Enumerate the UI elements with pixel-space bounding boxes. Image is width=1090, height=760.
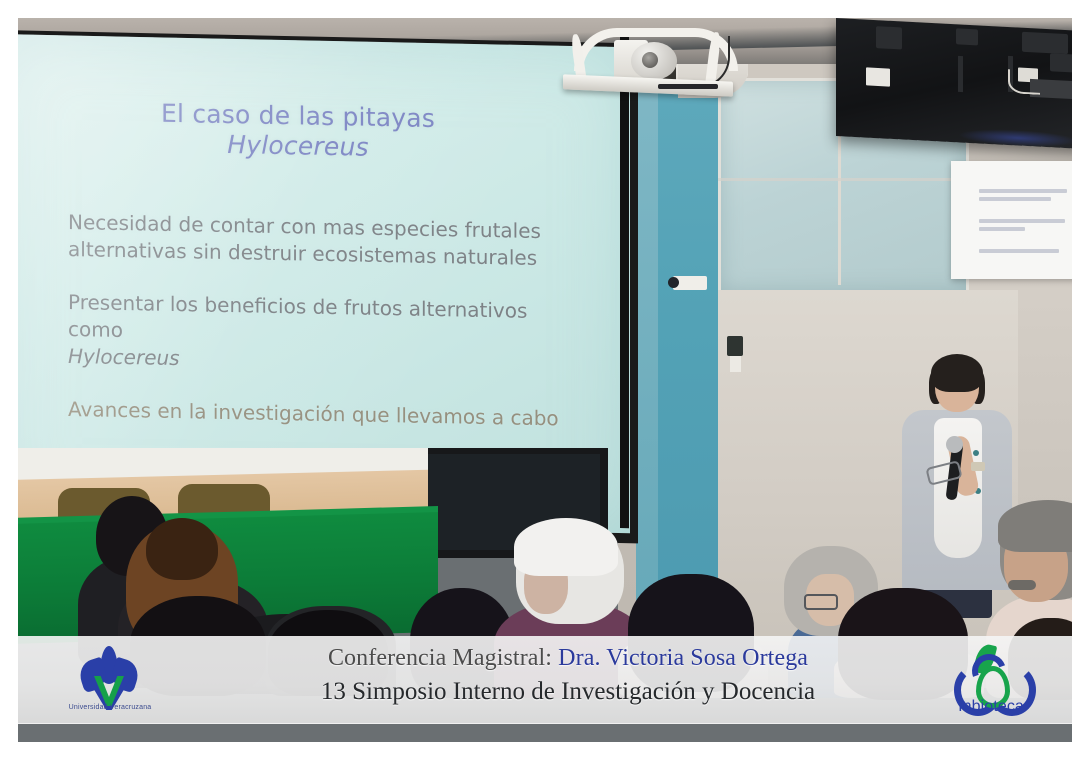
camera-cable-clip [658, 84, 718, 89]
secondary-monitor-screen [951, 161, 1072, 279]
tv-vesa-arm [958, 56, 963, 92]
glass-rail [718, 178, 963, 181]
universidad-veracruzana-logo: Universidad Veracruzana [58, 644, 162, 718]
monitor-text-line [979, 249, 1059, 253]
speaker-name: Dra. Victoria Sosa Ortega [558, 645, 808, 671]
wall-device-tag [730, 356, 741, 372]
tv-mount-bracket [1050, 53, 1072, 72]
speaker-hair [931, 354, 983, 392]
caption-line-1: Conferencia Magistral: Dra. Victoria Sos… [268, 642, 868, 675]
monitor-text-line [979, 197, 1051, 201]
moustache [1008, 580, 1036, 590]
projection-screen-right-edge [620, 36, 629, 528]
caption-line-2: 13 Simposio Interno de Investigación y D… [268, 675, 868, 708]
slide-bullet-text: Presentar los beneficios de frutos alter… [68, 290, 527, 342]
tv-mount-bracket [956, 28, 978, 45]
slide-bullet-italic: Hylocereus [68, 343, 588, 380]
uv-logo-caption: Universidad Veracruzana [58, 704, 162, 711]
tv-mount-bracket [1022, 32, 1068, 54]
caption-prefix: Conferencia Magistral: [328, 645, 558, 671]
speaker-button [973, 450, 979, 456]
presentation-slide: El caso de las pitayas Hylocereus Necesi… [18, 48, 618, 500]
wall-device-box [727, 336, 743, 356]
photo-frame: El caso de las pitayas Hylocereus Necesi… [0, 0, 1090, 760]
caption-bar: Universidad Veracruzana Conferencia Magi… [18, 636, 1072, 724]
tv-sticker [866, 67, 890, 86]
slide-bullet-text: Necesidad de contar con mas especies fru… [68, 210, 541, 270]
slide-bullet: Necesidad de contar con mas especies fru… [68, 209, 588, 273]
slide-title-line2: Hylocereus [18, 126, 578, 167]
wall-camera-icon [668, 277, 679, 288]
slide-bullet: Avances en la investigación que llevamos… [68, 396, 588, 433]
caption-text: Conferencia Magistral: Dra. Victoria Sos… [268, 642, 868, 708]
eyeglasses-icon [804, 594, 838, 610]
monitor-text-line [979, 219, 1065, 223]
teal-wall-pillar [658, 56, 720, 646]
inbioteca-logo: Inbioteca [932, 644, 1050, 718]
microphone-head-icon [946, 436, 963, 453]
slide-bullet: Presentar los beneficios de frutos alter… [68, 289, 588, 380]
attendee-hair-crown [146, 518, 218, 580]
inbioteca-logo-caption: Inbioteca [932, 698, 1050, 716]
monitor-text-line [979, 227, 1025, 231]
tv-mount-bracket [876, 26, 902, 49]
camera-lens-icon [642, 52, 658, 68]
monitor-text-line [979, 189, 1067, 193]
slide-title: El caso de las pitayas Hylocereus [18, 96, 578, 167]
conference-photograph: El caso de las pitayas Hylocereus Necesi… [18, 18, 1072, 742]
slide-title-line1: El caso de las pitayas [161, 99, 435, 133]
speaker-wristwatch [971, 462, 985, 471]
slide-bullet-list: Necesidad de contar con mas especies fru… [68, 209, 588, 459]
slide-bullet-text: Avances en la investigación que llevamos… [68, 397, 559, 430]
attendee-hair-crown [514, 518, 618, 576]
